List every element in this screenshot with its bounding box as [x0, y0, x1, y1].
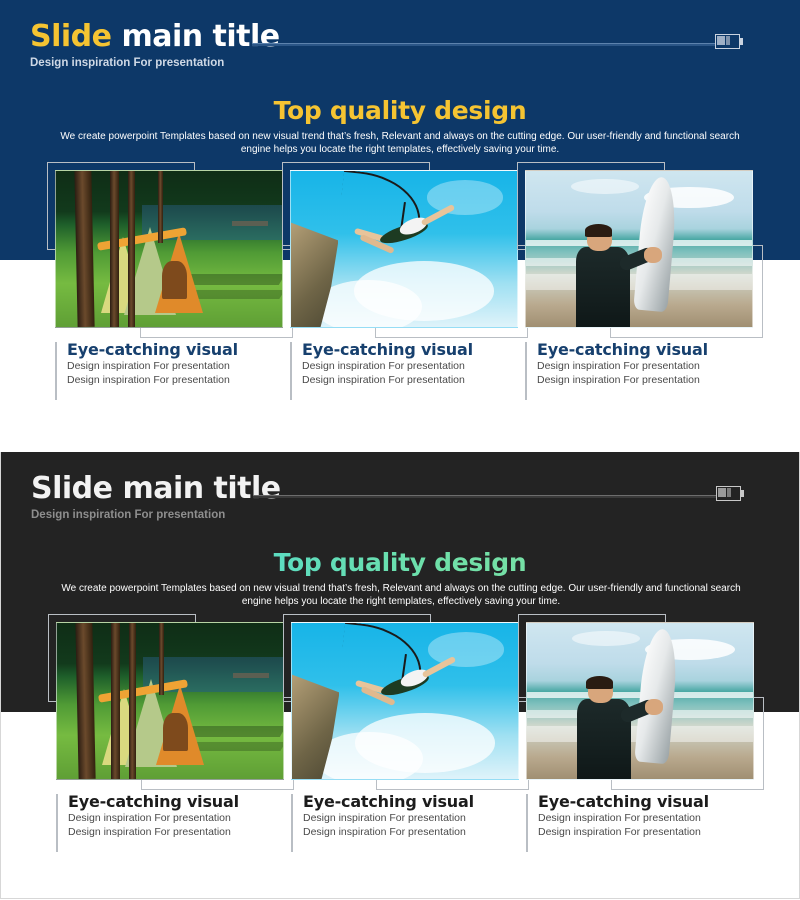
card-caption: Eye-catching visual Design inspiration F…: [55, 340, 285, 387]
section-heading: Top quality design: [0, 96, 800, 125]
battery-segment-2: [726, 36, 730, 45]
section-body-text: We create powerpoint Templates based on …: [60, 131, 740, 156]
bungee-jumper-photo[interactable]: [290, 170, 518, 328]
page-subtitle: Design inspiration For presentation: [30, 55, 770, 71]
card-caption: Eye-catching visual Design inspiration F…: [525, 340, 755, 387]
battery-icon[interactable]: [715, 34, 745, 49]
dock-shape: [232, 221, 268, 226]
surfboard: [633, 176, 678, 313]
card-caption-title: Eye-catching visual: [538, 792, 756, 812]
page-title-main: main title: [121, 19, 279, 54]
header-rule: [252, 43, 715, 46]
bungee-jumper-photo[interactable]: [291, 622, 519, 780]
card-caption-line-2: Design inspiration For presentation: [537, 374, 755, 388]
card-caption-line-2: Design inspiration For presentation: [302, 374, 520, 388]
battery-icon[interactable]: [716, 486, 746, 501]
card-item[interactable]: Eye-catching visual Design inspiration F…: [291, 622, 521, 782]
camping-tent-photo[interactable]: [56, 622, 284, 780]
card-caption-line-1: Design inspiration For presentation: [67, 360, 285, 374]
photo-frame: [291, 622, 521, 782]
tent-door: [163, 713, 188, 750]
slide-dark[interactable]: Slide main title Design inspiration For …: [0, 452, 800, 899]
card-caption-line-2: Design inspiration For presentation: [303, 826, 521, 840]
page-title: Slide main title: [31, 472, 771, 506]
battery-cap: [740, 38, 743, 45]
card-caption: Eye-catching visual Design inspiration F…: [56, 792, 286, 839]
slide-light[interactable]: Slide main title Design inspiration For …: [0, 0, 800, 447]
page-title-accent: Slide: [30, 19, 112, 54]
tree-trunk: [76, 623, 96, 779]
card-caption-line-1: Design inspiration For presentation: [302, 360, 520, 374]
photo-frame: [56, 622, 286, 782]
dock-shape: [233, 673, 269, 678]
card-caption-title: Eye-catching visual: [68, 792, 286, 812]
battery-segment-1: [718, 488, 726, 497]
card-caption-line-1: Design inspiration For presentation: [538, 812, 756, 826]
card-caption-title: Eye-catching visual: [303, 792, 521, 812]
card-caption-line-2: Design inspiration For presentation: [68, 826, 286, 840]
presentation-preview: Slide main title Design inspiration For …: [0, 0, 800, 900]
card-item[interactable]: Eye-catching visual Design inspiration F…: [526, 622, 756, 782]
photo-frame: [55, 170, 285, 330]
tree-trunk: [158, 171, 163, 243]
cloud-shape: [572, 631, 640, 647]
card-caption: Eye-catching visual Design inspiration F…: [526, 792, 756, 839]
card-item[interactable]: Eye-catching visual Design inspiration F…: [56, 622, 286, 782]
photo-frame: [526, 622, 756, 782]
slide-light-header: Slide main title Design inspiration For …: [30, 20, 770, 75]
card-caption-title: Eye-catching visual: [67, 340, 285, 360]
surfer-hand: [644, 247, 662, 263]
page-title: Slide main title: [30, 20, 770, 54]
slide-dark-header: Slide main title Design inspiration For …: [31, 472, 771, 527]
cloud-shape: [427, 180, 504, 214]
surfer-hair: [585, 224, 612, 236]
card-caption: Eye-catching visual Design inspiration F…: [291, 792, 521, 839]
card-caption-title: Eye-catching visual: [537, 340, 755, 360]
tree-trunk: [111, 623, 120, 779]
tree-trunk: [110, 171, 119, 327]
section-body-text: We create powerpoint Templates based on …: [61, 583, 741, 608]
camping-tent-photo[interactable]: [55, 170, 283, 328]
card-caption-line-2: Design inspiration For presentation: [538, 826, 756, 840]
tree-trunk: [159, 623, 164, 695]
tree-trunk: [129, 623, 136, 779]
battery-cap: [741, 490, 744, 497]
battery-segment-2: [727, 488, 731, 497]
card-caption-line-1: Design inspiration For presentation: [68, 812, 286, 826]
card-item[interactable]: Eye-catching visual Design inspiration F…: [525, 170, 755, 330]
section-heading: Top quality design: [1, 548, 799, 577]
card-caption-line-1: Design inspiration For presentation: [303, 812, 521, 826]
surfer-hair: [586, 676, 613, 688]
surfboard: [634, 628, 679, 765]
surfer-hand: [645, 699, 663, 715]
card-item[interactable]: Eye-catching visual Design inspiration F…: [55, 170, 285, 330]
card-row: Eye-catching visual Design inspiration F…: [0, 170, 800, 410]
tent-door: [162, 261, 187, 298]
photo-frame: [290, 170, 520, 330]
tree-trunk: [128, 171, 135, 327]
surfer-beach-photo[interactable]: [525, 170, 753, 328]
page-title-accent: Slide: [31, 471, 113, 506]
card-caption: Eye-catching visual Design inspiration F…: [290, 340, 520, 387]
card-caption-title: Eye-catching visual: [302, 340, 520, 360]
card-caption-line-2: Design inspiration For presentation: [67, 374, 285, 388]
header-rule: [253, 495, 716, 498]
page-title-main: main title: [122, 471, 280, 506]
card-row: Eye-catching visual Design inspiration F…: [1, 622, 800, 862]
tree-trunk: [75, 171, 95, 327]
page-subtitle: Design inspiration For presentation: [31, 507, 771, 523]
card-caption-line-1: Design inspiration For presentation: [537, 360, 755, 374]
cloud-shape: [428, 632, 505, 666]
battery-segment-1: [717, 36, 725, 45]
card-item[interactable]: Eye-catching visual Design inspiration F…: [290, 170, 520, 330]
cloud-shape: [571, 179, 639, 195]
surfer-beach-photo[interactable]: [526, 622, 754, 780]
photo-frame: [525, 170, 755, 330]
